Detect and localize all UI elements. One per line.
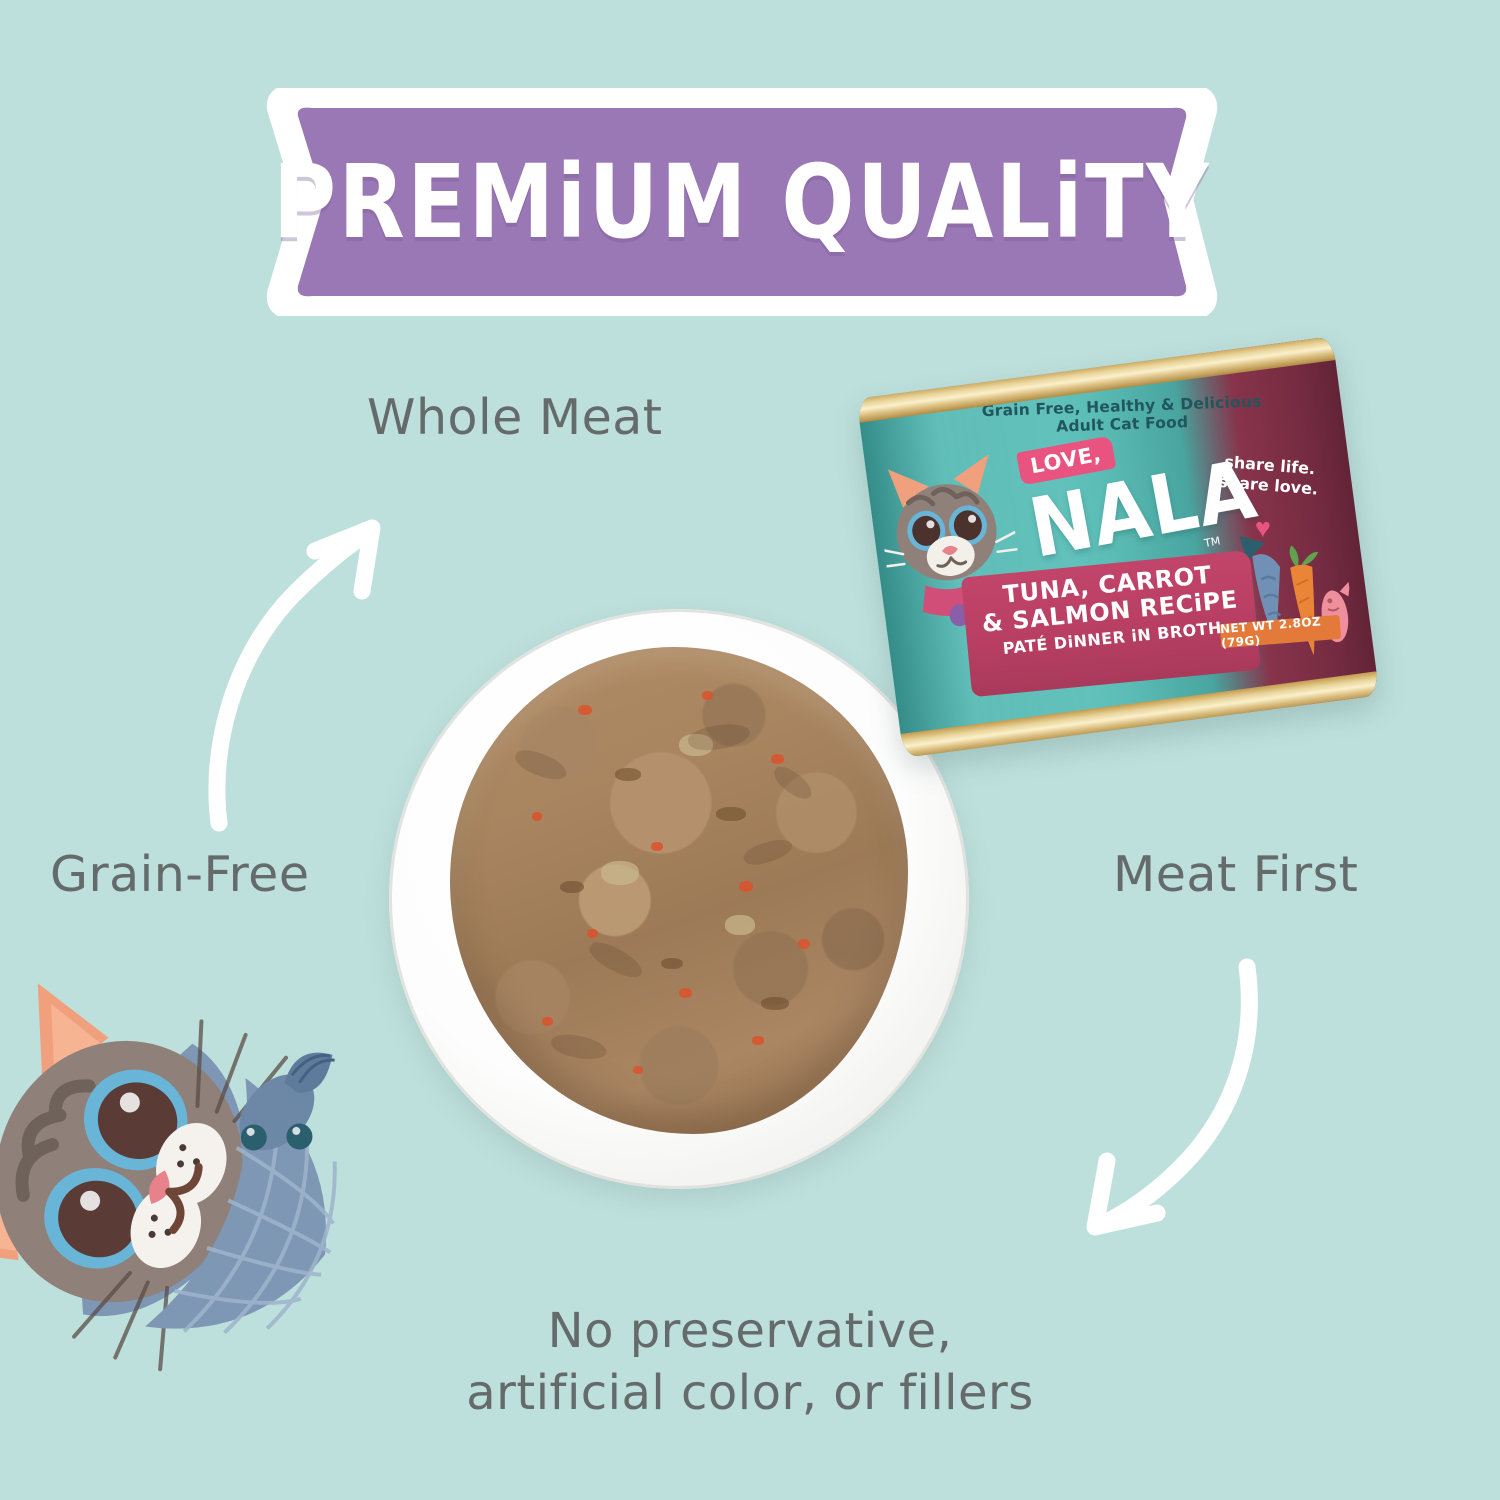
promo-graphic: PREMiUM QUALiTY Whole Meat Grain-Free Me… bbox=[0, 0, 1500, 1500]
food-plate bbox=[389, 609, 969, 1189]
curved-arrow-down-left-icon bbox=[1035, 945, 1300, 1260]
nala-cat-mascot-icon bbox=[0, 968, 346, 1408]
trademark-symbol: TM bbox=[1203, 534, 1221, 550]
feature-label-meat-first: Meat First bbox=[1113, 845, 1358, 905]
share-tagline: share life. share love. bbox=[1213, 451, 1326, 500]
banner-title: PREMiUM QUALiTY bbox=[262, 126, 1222, 279]
feature-label-grain-free: Grain-Free bbox=[50, 845, 309, 905]
product-can: Grain Free, Healthy & Delicious Adult Ca… bbox=[856, 336, 1379, 758]
premium-quality-banner: PREMiUM QUALiTY bbox=[262, 88, 1222, 316]
can-label: Grain Free, Healthy & Delicious Adult Ca… bbox=[856, 336, 1379, 758]
curved-arrow-up-right-icon bbox=[165, 495, 415, 840]
feature-label-whole-meat: Whole Meat bbox=[367, 388, 662, 448]
recipe-text: TUNA, CARROT & SALMON RECiPE PATÉ DiNNER… bbox=[962, 558, 1258, 661]
